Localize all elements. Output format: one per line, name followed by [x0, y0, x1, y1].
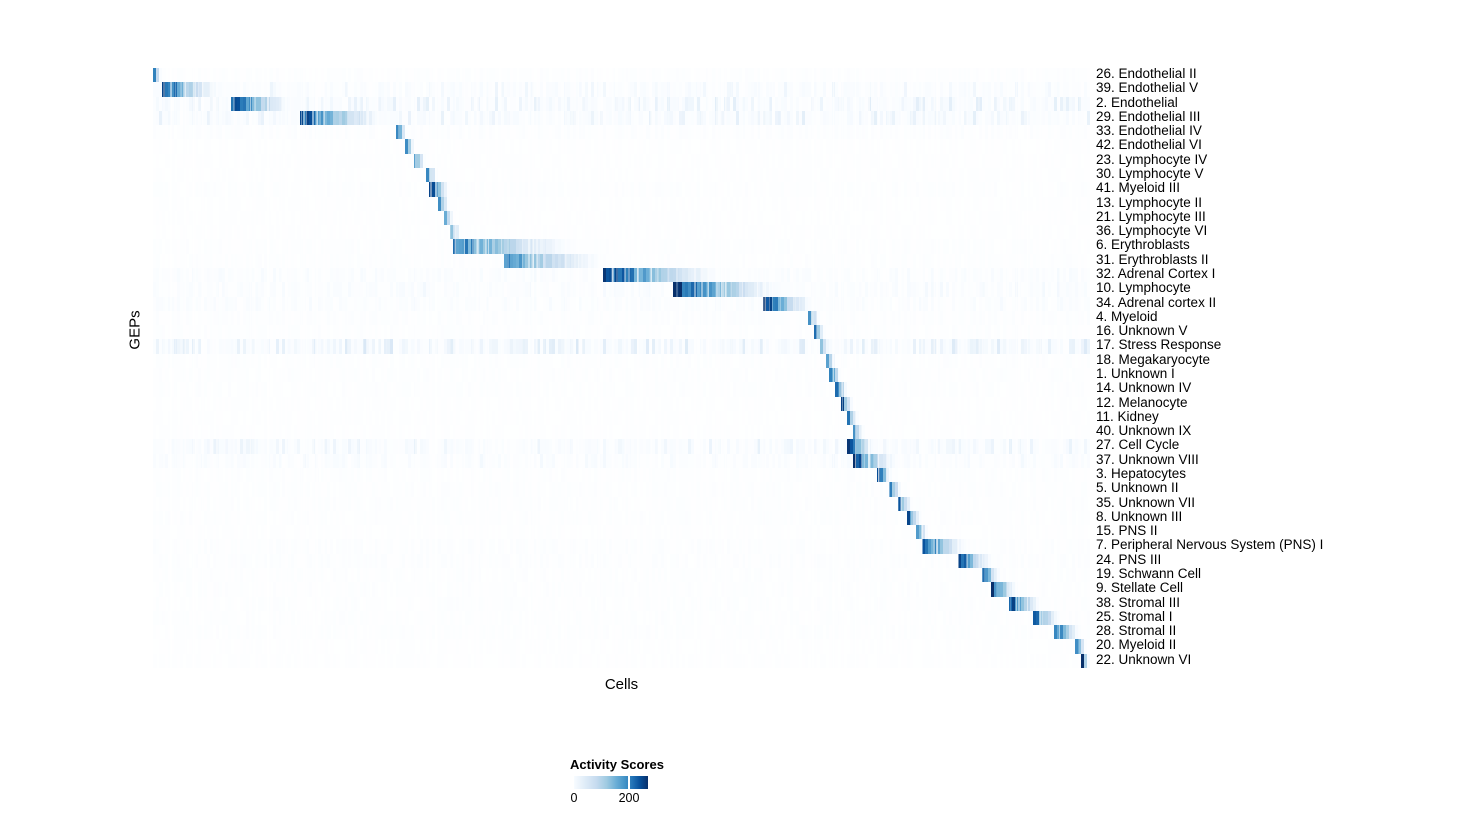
- heatmap-cell: [1087, 82, 1090, 96]
- heatmap-cell: [940, 225, 944, 239]
- heatmap-row: [153, 297, 1090, 311]
- heatmap-row: [153, 225, 1090, 239]
- heatmap-cell: [913, 197, 917, 211]
- heatmap-row: [153, 168, 1090, 182]
- heatmap-cell: [643, 139, 647, 153]
- heatmap-cell: [1087, 282, 1090, 296]
- heatmap-cell: [342, 225, 346, 239]
- heatmap-cell: [949, 197, 953, 211]
- heatmap-cell: [585, 168, 589, 182]
- heatmap-cell: [273, 197, 277, 211]
- heatmap-cell: [1048, 225, 1052, 239]
- heatmap-cell: [156, 254, 160, 268]
- heatmap-row: [153, 97, 1090, 111]
- heatmap-plot-area: [153, 68, 1090, 668]
- heatmap-cell: [480, 182, 484, 196]
- heatmap-cell: [324, 139, 328, 153]
- heatmap-cell: [351, 182, 355, 196]
- heatmap-cell: [513, 68, 517, 82]
- heatmap-cell: [342, 68, 346, 82]
- heatmap-cell: [291, 211, 295, 225]
- heatmap-cell: [820, 154, 824, 168]
- heatmap-cell: [1069, 211, 1073, 225]
- heatmap-cell: [736, 225, 740, 239]
- heatmap-row: [153, 154, 1090, 168]
- heatmap-cell: [552, 197, 556, 211]
- heatmap-cell: [820, 139, 824, 153]
- heatmap-row: [153, 68, 1090, 82]
- heatmap-cell: [513, 225, 517, 239]
- heatmap-cell: [685, 211, 689, 225]
- heatmap-cell: [661, 154, 665, 168]
- heatmap-cell: [1060, 225, 1064, 239]
- heatmap-cell: [916, 154, 920, 168]
- heatmap-cell: [943, 168, 947, 182]
- heatmap-cell: [618, 197, 622, 211]
- heatmap-cell: [1087, 111, 1090, 125]
- heatmap-cell: [1072, 225, 1076, 239]
- heatmap-cell: [1048, 139, 1052, 153]
- heatmap-cell: [495, 68, 499, 82]
- heatmap-cell: [270, 225, 274, 239]
- heatmap-cell: [904, 197, 908, 211]
- heatmap-cell: [552, 139, 556, 153]
- heatmap-cell: [1087, 254, 1090, 268]
- heatmap-cell: [1003, 225, 1007, 239]
- heatmap-cell: [369, 139, 373, 153]
- heatmap-cell: [510, 197, 514, 211]
- heatmap-cell: [456, 68, 460, 82]
- heatmap-cell: [546, 154, 550, 168]
- heatmap-cell: [276, 225, 280, 239]
- heatmap-cell: [1066, 197, 1070, 211]
- heatmap-cell: [1087, 68, 1090, 82]
- heatmap-row: [153, 82, 1090, 96]
- heatmap-cell: [817, 211, 821, 225]
- heatmap-cell: [640, 211, 644, 225]
- heatmap-cell: [1012, 197, 1016, 211]
- heatmap-cell: [243, 225, 247, 239]
- heatmap-cell: [1087, 97, 1090, 111]
- heatmap-cell: [1066, 154, 1070, 168]
- heatmap-cell: [159, 154, 163, 168]
- heatmap-cell: [333, 211, 337, 225]
- heatmap-cell: [1087, 182, 1090, 196]
- heatmap-cell: [546, 168, 550, 182]
- heatmap-cell: [390, 168, 394, 182]
- heatmap-cell: [709, 168, 713, 182]
- heatmap-row: [153, 197, 1090, 211]
- heatmap-cell: [165, 197, 169, 211]
- heatmap-cell: [456, 139, 460, 153]
- heatmap-cell: [618, 139, 622, 153]
- heatmap-cell: [1087, 125, 1090, 139]
- heatmap-row: [153, 211, 1090, 225]
- heatmap-cell: [1087, 197, 1090, 211]
- heatmap-cell: [510, 139, 514, 153]
- heatmap-cell: [751, 197, 755, 211]
- heatmap-row: [153, 282, 1090, 296]
- heatmap-cell: [913, 211, 917, 225]
- heatmap-cell: [997, 168, 1001, 182]
- heatmap-cell: [805, 211, 809, 225]
- heatmap-cell: [802, 239, 806, 253]
- heatmap-row: [153, 125, 1090, 139]
- heatmap-cell: [549, 211, 553, 225]
- heatmap-cell: [1003, 139, 1007, 153]
- heatmap-row: [153, 239, 1090, 253]
- heatmap-cell: [1087, 211, 1090, 225]
- heatmap-row: [153, 182, 1090, 196]
- heatmap-cell: [369, 68, 373, 82]
- heatmap-cell: [961, 225, 965, 239]
- heatmap-cell: [237, 197, 241, 211]
- heatmap-cell: [258, 254, 262, 268]
- heatmap-cell: [228, 225, 232, 239]
- heatmap-cell: [1087, 168, 1090, 182]
- heatmap-cell: [516, 211, 520, 225]
- heatmap-row: [153, 139, 1090, 153]
- heatmap-cell: [913, 254, 917, 268]
- heatmap-cell: [904, 139, 908, 153]
- heatmap-cell: [402, 168, 406, 182]
- heatmap-cell: [240, 168, 244, 182]
- heatmap-cell: [165, 139, 169, 153]
- heatmap-cell: [408, 197, 412, 211]
- heatmap-cell: [417, 254, 421, 268]
- heatmap-cell: [606, 154, 610, 168]
- heatmap-cell: [1072, 197, 1076, 211]
- heatmap-cell: [826, 225, 830, 239]
- heatmap-cell: [1087, 239, 1090, 253]
- heatmap-cell: [646, 168, 650, 182]
- heatmap-cell: [1087, 225, 1090, 239]
- heatmap-cell: [946, 154, 950, 168]
- heatmap-cell: [291, 225, 295, 239]
- heatmap-row: [153, 254, 1090, 268]
- heatmap-figure: GEPs Cells 26. Endothelial II39. Endothe…: [0, 0, 1457, 815]
- heatmap-cell: [784, 225, 788, 239]
- heatmap-cell: [775, 211, 779, 225]
- heatmap-cell: [949, 211, 953, 225]
- heatmap-row: [153, 268, 1090, 282]
- heatmap-cell: [1087, 154, 1090, 168]
- heatmap-cell: [1087, 139, 1090, 153]
- heatmap-cell: [904, 211, 908, 225]
- heatmap-cell: [1033, 154, 1037, 168]
- heatmap-cell: [558, 168, 562, 182]
- heatmap-cell: [348, 211, 352, 225]
- heatmap-cell: [591, 211, 595, 225]
- heatmap-cell: [420, 225, 424, 239]
- heatmap-cell: [913, 168, 917, 182]
- heatmap-cell: [444, 225, 448, 239]
- heatmap-cell: [258, 68, 262, 82]
- heatmap-cell: [327, 168, 331, 182]
- heatmap-cell: [297, 225, 301, 239]
- heatmap-cell: [751, 211, 755, 225]
- heatmap-row: [153, 111, 1090, 125]
- heatmap-cell: [736, 211, 740, 225]
- heatmap-cell: [847, 197, 851, 211]
- heatmap-cell: [973, 211, 977, 225]
- heatmap-cell: [618, 225, 622, 239]
- heatmap-cell: [156, 225, 160, 239]
- heatmap-cell: [1000, 154, 1004, 168]
- heatmap-cell: [829, 239, 833, 253]
- heatmap-cell: [1045, 239, 1049, 253]
- heatmap-cell: [1087, 268, 1090, 282]
- heatmap-cell: [606, 139, 610, 153]
